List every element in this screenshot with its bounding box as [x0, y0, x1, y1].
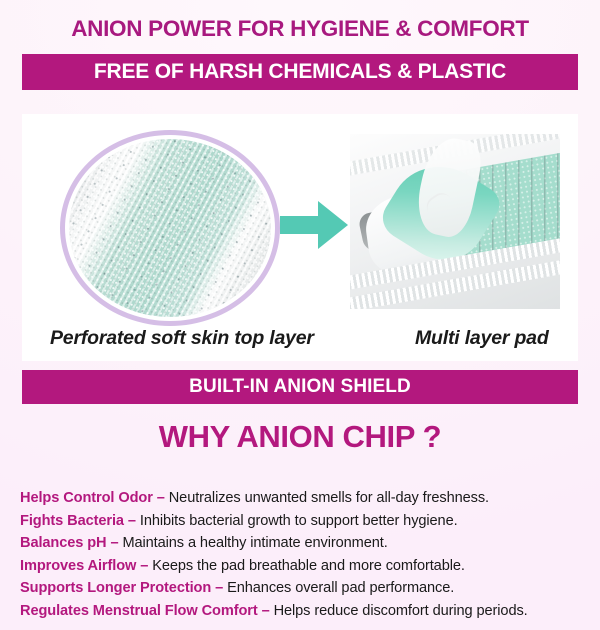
infographic-page: ANION POWER FOR HYGIENE & COMFORT FREE O…	[0, 0, 600, 630]
circle-ring-border	[60, 130, 280, 326]
benefit-description: Inhibits bacterial growth to support bet…	[140, 513, 458, 529]
benefit-item: Balances pH – Maintains a healthy intima…	[20, 532, 586, 555]
benefit-dash: –	[153, 490, 169, 506]
benefit-label: Supports Longer Protection	[20, 580, 211, 596]
benefit-item: Fights Bacteria – Inhibits bacterial gro…	[20, 510, 586, 533]
benefit-description: Neutralizes unwanted smells for all-day …	[169, 490, 489, 506]
caption-multi-layer-pad: Multi layer pad	[415, 327, 549, 350]
banner-built-in-anion-shield: BUILT-IN ANION SHIELD	[22, 370, 578, 404]
section-heading-why-anion-chip: WHY ANION CHIP ?	[0, 419, 600, 455]
benefit-label: Regulates Menstrual Flow Comfort	[20, 603, 258, 619]
benefit-dash: –	[107, 535, 123, 551]
benefit-label: Balances pH	[20, 535, 107, 551]
multi-layer-pad-photo	[350, 134, 560, 309]
benefit-description: Maintains a healthy intimate environment…	[122, 535, 387, 551]
benefit-dash: –	[124, 513, 140, 529]
benefit-description: Helps reduce discomfort during periods.	[274, 603, 528, 619]
benefit-item: Supports Longer Protection – Enhances ov…	[20, 577, 586, 600]
benefit-item: Helps Control Odor – Neutralizes unwante…	[20, 487, 586, 510]
banner-free-of-harsh-chemicals: FREE OF HARSH CHEMICALS & PLASTIC	[22, 54, 578, 90]
benefit-description: Keeps the pad breathable and more comfor…	[152, 558, 465, 574]
caption-perforated-top-layer: Perforated soft skin top layer	[50, 327, 314, 350]
benefits-list: Helps Control Odor – Neutralizes unwante…	[20, 487, 586, 622]
benefit-item: Improves Airflow – Keeps the pad breatha…	[20, 555, 586, 578]
benefit-description: Enhances overall pad performance.	[227, 580, 454, 596]
product-image-panel: Perforated soft skin top layer Multi lay…	[22, 114, 578, 361]
benefit-dash: –	[136, 558, 152, 574]
benefit-item: Regulates Menstrual Flow Comfort – Helps…	[20, 600, 586, 623]
benefit-label: Improves Airflow	[20, 558, 136, 574]
benefit-label: Fights Bacteria	[20, 513, 124, 529]
benefit-label: Helps Control Odor	[20, 490, 153, 506]
benefit-dash: –	[211, 580, 227, 596]
right-arrow-icon	[280, 199, 348, 251]
magnified-fabric-closeup-icon	[60, 130, 280, 326]
page-title: ANION POWER FOR HYGIENE & COMFORT	[0, 15, 600, 43]
benefit-dash: –	[258, 603, 274, 619]
